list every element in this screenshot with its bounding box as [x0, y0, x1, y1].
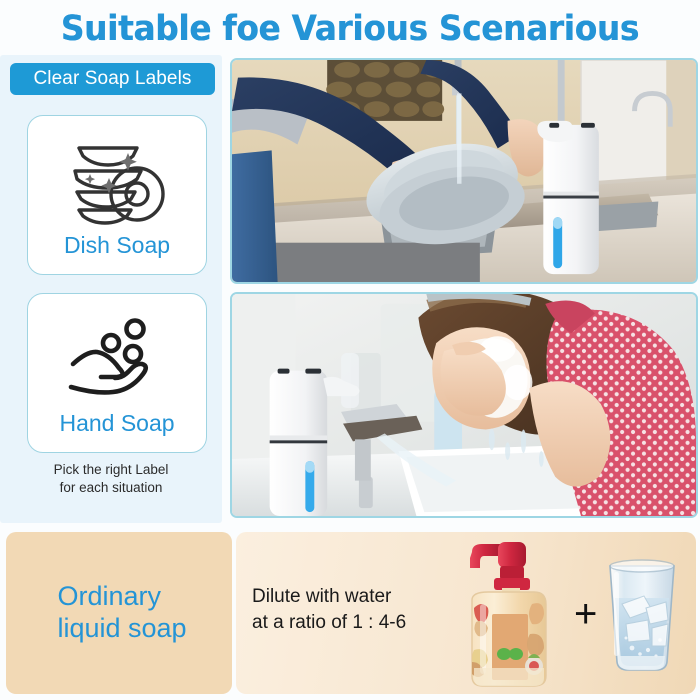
kitchen-dishwashing-photo	[230, 58, 698, 284]
clear-soap-labels-badge: Clear Soap Labels	[10, 63, 215, 95]
soap-labels-panel: Clear Soap Labels Dish Soap	[0, 55, 222, 523]
page-title: Suitable foe Various Scenarious	[0, 6, 700, 52]
hand-soap-label: Hand Soap	[59, 410, 174, 437]
plus-sign: +	[574, 594, 597, 634]
kitchen-scene-illustration	[232, 60, 696, 282]
product-infographic: Suitable foe Various Scenarious Clear So…	[0, 0, 700, 700]
water-glass-illustration	[596, 552, 688, 676]
hint-line-1: Pick the right Label	[0, 461, 222, 479]
dilution-instruction-text: Dilute with water at a ratio of 1 : 4-6	[252, 584, 406, 636]
hand-with-bubbles-icon	[57, 308, 177, 408]
dish-soap-label: Dish Soap	[64, 232, 170, 259]
dilute-line-2: at a ratio of 1 : 4-6	[252, 610, 406, 636]
hint-line-2: for each situation	[0, 479, 222, 497]
liquid-soap-pump-bottle-icon	[448, 538, 564, 690]
ordinary-line-2: liquid soap	[57, 613, 186, 645]
page-title-text: Suitable foe Various Scenarious	[61, 9, 639, 49]
badge-label: Clear Soap Labels	[33, 68, 191, 90]
label-hint-text: Pick the right Label for each situation	[0, 461, 222, 497]
soap-dispenser-product	[537, 121, 598, 274]
water-glass-with-ice-icon	[596, 552, 688, 676]
hand-soap-card[interactable]: Hand Soap	[27, 293, 207, 453]
dilute-line-1: Dilute with water	[252, 584, 406, 610]
ordinary-line-1: Ordinary	[57, 581, 186, 613]
dish-soap-card[interactable]: Dish Soap	[27, 115, 207, 275]
bathroom-scene-illustration	[232, 294, 696, 516]
bathroom-face-washing-photo	[230, 292, 698, 518]
ordinary-liquid-soap-label: Ordinary liquid soap	[51, 581, 186, 645]
ordinary-liquid-soap-panel: Ordinary liquid soap	[6, 532, 232, 694]
stacked-dishes-icon	[57, 130, 177, 230]
soap-bottle-illustration	[448, 538, 564, 690]
dilution-instruction-panel: Dilute with water at a ratio of 1 : 4-6	[236, 532, 696, 694]
